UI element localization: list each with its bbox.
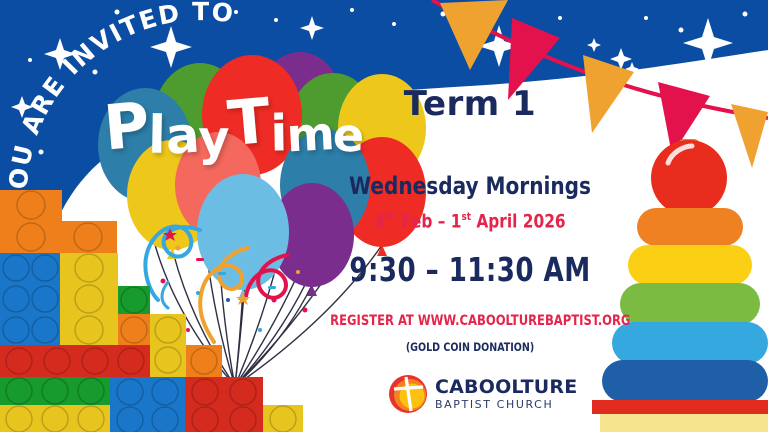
time-range: 9:30 – 11:30 AM bbox=[347, 250, 593, 289]
date-end-month: April 2026 bbox=[476, 210, 565, 232]
term-heading: Term 1 bbox=[338, 84, 602, 124]
stacker-base bbox=[592, 400, 768, 414]
church-logo: CABOOLTURE BAPTIST CHURCH bbox=[388, 372, 568, 416]
weekday-heading: Wednesday Mornings bbox=[340, 172, 600, 200]
stacker-ring bbox=[620, 283, 760, 325]
stacker-ring bbox=[628, 245, 752, 285]
register-line[interactable]: REGISTER AT WWW.CABOOLTUREBAPTIST.ORG bbox=[330, 313, 610, 329]
date-start-month: Feb bbox=[401, 210, 432, 232]
church-name: CABOOLTURE bbox=[435, 378, 577, 397]
stacker-base-bottom bbox=[600, 414, 768, 432]
date-start-day: 4 bbox=[374, 210, 385, 232]
church-logo-text: CABOOLTURE BAPTIST CHURCH bbox=[435, 378, 577, 410]
date-dash: – bbox=[432, 210, 450, 232]
church-logo-cross-icon bbox=[388, 374, 428, 414]
date-end-suffix: st bbox=[461, 210, 471, 223]
stacker-ring bbox=[612, 322, 768, 364]
date-end-day: 1 bbox=[451, 210, 462, 232]
stacker-ball bbox=[651, 140, 727, 216]
stacker-ring bbox=[602, 360, 768, 402]
date-range: 4th Feb – 1st April 2026 bbox=[344, 210, 596, 232]
playtime-poster: YOU ARE INVITED TO PlayTime bbox=[0, 0, 768, 432]
date-start-suffix: th bbox=[385, 210, 396, 223]
church-subtitle: BAPTIST CHURCH bbox=[435, 399, 577, 410]
stacker-ring bbox=[637, 208, 743, 246]
donation-note: (GOLD COIN DONATION) bbox=[341, 340, 599, 354]
